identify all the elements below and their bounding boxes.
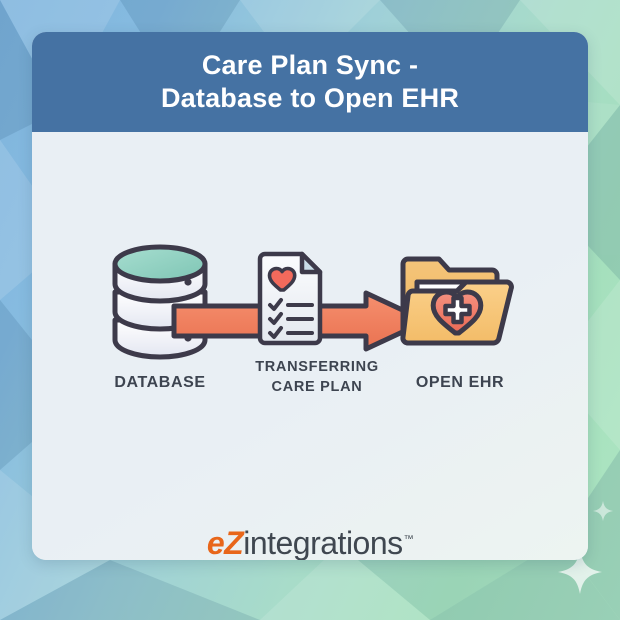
card-body: DATABASE <box>32 132 588 560</box>
brand-logo-accent: eZ <box>207 525 243 560</box>
flow-node-label-open-ehr: OPEN EHR <box>370 373 550 393</box>
integration-flow-diagram: DATABASE <box>32 232 588 432</box>
brand-logo-main: integrations <box>243 525 402 560</box>
card-header: Care Plan Sync - Database to Open EHR <box>32 32 588 132</box>
ehr-folder-icon <box>395 242 525 362</box>
page-title: Care Plan Sync - Database to Open EHR <box>141 49 479 115</box>
screenshot-canvas: Care Plan Sync - Database to Open EHR <box>0 0 620 620</box>
trademark-symbol: ™ <box>404 534 414 545</box>
sparkle-icon <box>592 500 614 522</box>
care-plan-document-icon <box>254 250 326 348</box>
content-card: Care Plan Sync - Database to Open EHR <box>32 32 588 560</box>
flow-node-open-ehr: OPEN EHR <box>370 242 550 393</box>
brand-logo: eZintegrations™ <box>32 527 588 559</box>
